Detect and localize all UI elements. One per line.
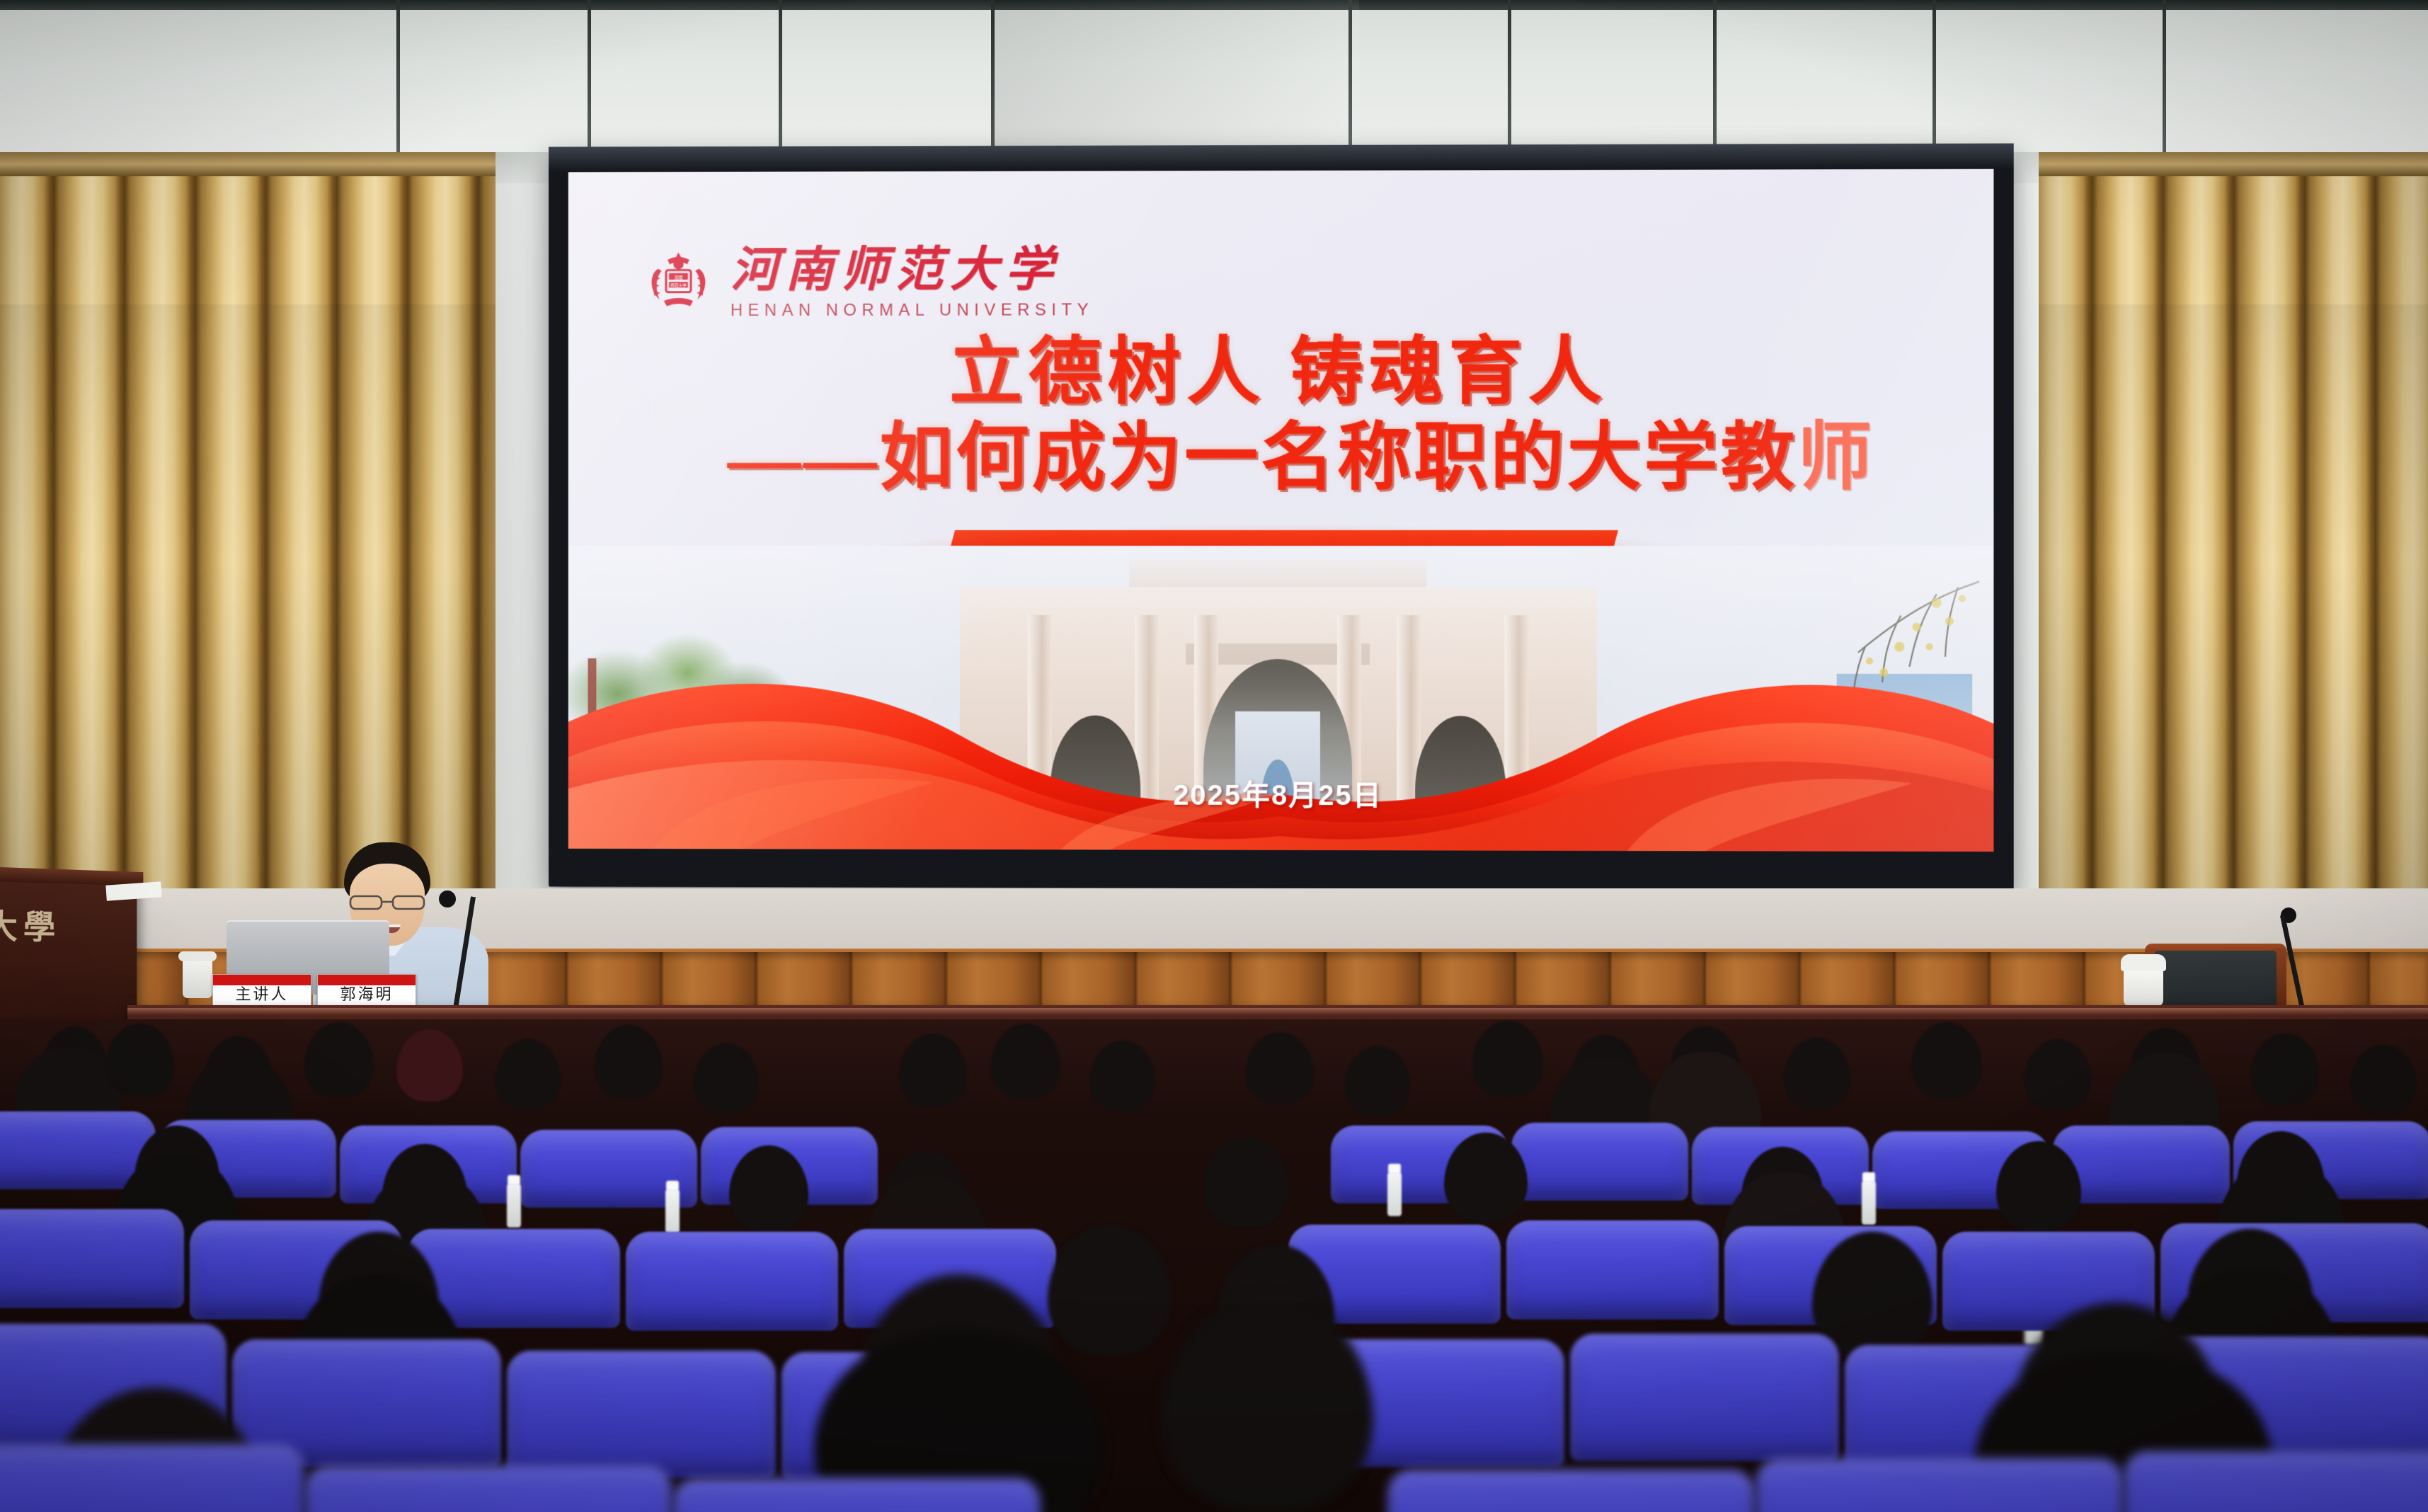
stage-curtain-right (2039, 152, 2428, 1009)
slide-title-sub-tail: 师 (1797, 418, 1874, 499)
audience-head (1246, 1032, 1314, 1104)
ceiling-seam (1932, 0, 1936, 163)
audience-area (0, 1019, 2428, 1512)
screen-bezel-top (549, 144, 2014, 173)
water-bottle (665, 1189, 680, 1233)
head-table-highlight (127, 1008, 2428, 1015)
audience-head (694, 1043, 759, 1113)
auditorium-seat (1506, 1220, 1719, 1319)
red-ribbon-waves (568, 637, 1994, 852)
audience-head (396, 1029, 463, 1101)
auditorium-seat (626, 1232, 838, 1331)
university-crest-icon: 河南 师范大学 (642, 246, 715, 320)
audience-head (1784, 1038, 1850, 1109)
ceiling-seam (1713, 0, 1717, 163)
audience-head (1345, 1046, 1410, 1116)
bottle-cap (1862, 1172, 1875, 1182)
chair-backrest (2155, 951, 2277, 1009)
audience-head (1472, 1021, 1543, 1097)
ceiling (0, 0, 2428, 163)
nameplate-role: 主讲人 (212, 974, 311, 1008)
water-bottle (1387, 1172, 1402, 1216)
audience-head (595, 1025, 663, 1099)
lectern: 大學 (0, 875, 137, 1043)
audience-head (304, 1022, 374, 1097)
logo-name-en: HENAN NORMAL UNIVERSITY (731, 300, 1094, 321)
tea-cup-right (2124, 968, 2163, 1007)
audience-head (899, 1033, 967, 1107)
nameplate-header-bar (318, 975, 416, 985)
auditorium-seat (1387, 1470, 1756, 1512)
audience-head (2350, 1045, 2417, 1114)
audience-head (1911, 1022, 1982, 1099)
audience-head (496, 1039, 561, 1110)
slide-title-main: 立德树人 铸魂育人 (568, 331, 1994, 415)
audience-head (1048, 1225, 1172, 1356)
auditorium-seat (0, 1209, 184, 1308)
eyeglasses-icon (348, 893, 428, 912)
curtain-rod-right (2039, 152, 2428, 176)
bottle-cap (508, 1175, 520, 1185)
auditorium-seat (304, 1465, 672, 1512)
curtain-rod-left (0, 152, 496, 176)
nameplate-header-bar (213, 975, 311, 985)
ceiling-seam (1508, 0, 1511, 163)
auditorium-seat (672, 1478, 1041, 1512)
auditorium-seat (1511, 1123, 1688, 1201)
slide-title-sub-prefix: ——如何成为一名称职的大学教 (728, 418, 1797, 500)
audience-head (991, 1024, 1060, 1099)
tea-cup-left (183, 957, 212, 998)
tea-cup-lid-right (2121, 954, 2166, 971)
tea-cup-lid-left (178, 951, 217, 961)
auditorium-scene: 河南 师范大学 河南师范大学 HENAN NORMAL UNIVERSITY 立… (0, 0, 2428, 1512)
ceiling-seam (396, 0, 400, 163)
water-bottle (1862, 1181, 1876, 1225)
presentation-slide: 河南 师范大学 河南师范大学 HENAN NORMAL UNIVERSITY 立… (568, 169, 1994, 852)
led-display-frame: 河南 师范大学 河南师范大学 HENAN NORMAL UNIVERSITY 立… (549, 144, 2014, 890)
slide-title-sub: ——如何成为一名称职的大学教师 (568, 418, 1994, 500)
auditorium-seat (1756, 1458, 2124, 1512)
ceiling-seam (779, 0, 782, 163)
lectern-engraving: 大學 (0, 900, 61, 949)
audience-head (1203, 1137, 1288, 1227)
auditorium-seat (2124, 1451, 2428, 1512)
audience-head (1161, 1295, 1373, 1512)
bottle-cap (666, 1181, 679, 1191)
auditorium-seat (507, 1351, 776, 1478)
university-logo: 河南 师范大学 河南师范大学 HENAN NORMAL UNIVERSITY (642, 245, 1094, 321)
svg-text:师范大学: 师范大学 (670, 282, 687, 288)
slide-date: 2025年8月25日 (568, 771, 1994, 815)
nameplate-name: 郭海明 (317, 974, 416, 1008)
logo-wordmark: 河南师范大学 HENAN NORMAL UNIVERSITY (731, 245, 1094, 321)
svg-text:河南: 河南 (674, 275, 682, 280)
audience-head (106, 1024, 174, 1097)
audience-head (2025, 1039, 2091, 1110)
audience-head (1090, 1041, 1155, 1111)
bottle-cap (1388, 1164, 1401, 1174)
water-bottle (507, 1184, 521, 1227)
audience-head (2251, 1033, 2319, 1106)
microphone-head-left (439, 890, 456, 907)
ceiling-seam (588, 0, 591, 163)
slide-title-block: 立德树人 铸魂育人 ——如何成为一名称职的大学教师 (568, 331, 1994, 500)
ceiling-beam (991, 0, 1359, 163)
empty-chair (2145, 938, 2286, 1012)
campus-photo-band: 2025年8月25日 (568, 546, 1994, 852)
logo-name-cn: 河南师范大学 (731, 245, 1094, 294)
ceiling-seam (2163, 0, 2166, 163)
auditorium-seat (0, 1444, 304, 1512)
auditorium-seat (1570, 1334, 1839, 1461)
